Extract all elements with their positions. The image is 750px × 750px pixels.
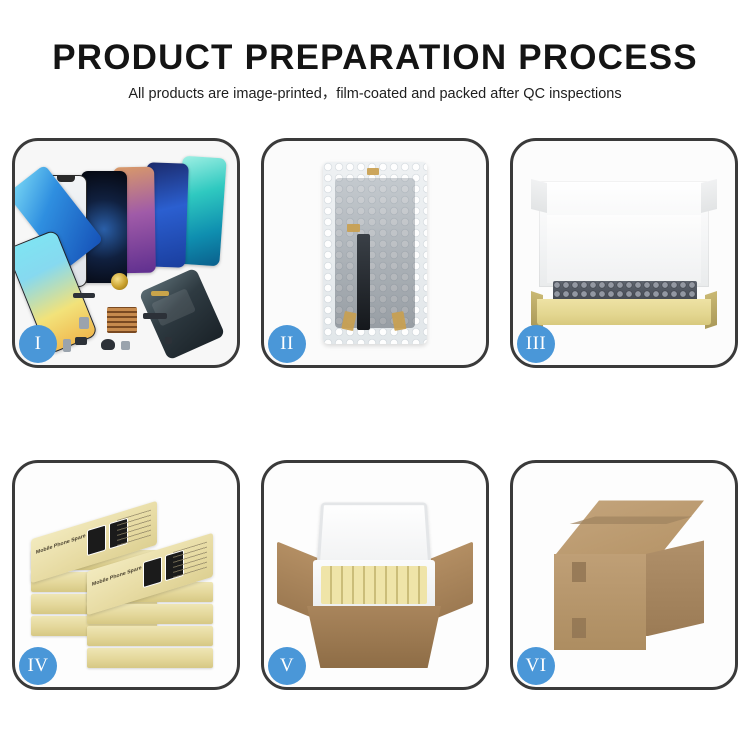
screw-icon — [165, 337, 172, 344]
flex-cable-dark-icon — [143, 313, 167, 319]
tape-bottom-left-icon — [341, 311, 356, 331]
part-connector-icon — [75, 337, 87, 345]
box-lid-flap-left-icon — [531, 179, 547, 213]
step-badge-2: II — [268, 325, 306, 363]
part-bracket-icon — [79, 317, 89, 329]
box-lid-flap-right-icon — [701, 179, 717, 213]
step-badge-5: V — [268, 647, 306, 685]
step-panel-6: VI — [510, 460, 738, 690]
step-panel-4: Mobile Phone Spare Parts Mobile Phone Sp… — [12, 460, 240, 690]
tape-top-icon — [367, 168, 379, 175]
box-print-thumb-icon — [143, 557, 162, 589]
step-badge-6: VI — [517, 647, 555, 685]
box-stack-icon: Mobile Phone Spare Parts Mobile Phone Sp… — [31, 494, 221, 664]
carton-body-icon — [307, 606, 441, 668]
speaker-module-icon — [101, 339, 115, 350]
box-print-textlines-icon — [173, 542, 207, 578]
page-subtitle: All products are image-printed，film-coat… — [0, 86, 750, 103]
step-badge-3: III — [517, 325, 555, 363]
flex-cable-gold-icon — [151, 291, 169, 296]
carton-side-face-icon — [646, 540, 704, 636]
box-print-thumb-icon — [87, 525, 106, 557]
tape-middle-icon — [347, 224, 360, 232]
camera-module-icon — [121, 341, 130, 350]
step-panel-3: III — [510, 138, 738, 368]
header: PRODUCT PREPARATION PROCESS All products… — [0, 0, 750, 103]
page-title: PRODUCT PREPARATION PROCESS — [0, 40, 750, 77]
yellow-boxes-inside-icon — [321, 566, 427, 604]
sealed-carton-icon — [532, 500, 716, 658]
carton-tape-upper-icon — [572, 562, 586, 582]
step-badge-1: I — [19, 325, 57, 363]
box-front-panel-icon — [537, 299, 711, 325]
box-print-textlines-icon — [117, 510, 151, 546]
foam-lined-carton-icon — [277, 494, 473, 674]
step-panel-5: V — [261, 460, 489, 690]
wrapped-screen-icon — [335, 178, 415, 328]
sim-tray-icon — [63, 339, 71, 352]
screen-flex-cable-icon — [357, 234, 370, 330]
speaker-coil-icon — [111, 273, 128, 290]
open-inner-box-icon — [531, 181, 717, 333]
foam-lid-icon — [317, 502, 432, 566]
carton-front-face-icon — [554, 554, 646, 650]
bubble-wrap-bag-icon — [323, 162, 427, 344]
stacked-box-icon — [87, 648, 213, 668]
foam-sheet-icon — [547, 215, 701, 283]
step-panel-2: II — [261, 138, 489, 368]
logic-board-chip-icon — [107, 307, 137, 333]
step-badge-4: IV — [19, 647, 57, 685]
step-panel-1: I — [12, 138, 240, 368]
process-steps-grid: I II — [12, 138, 738, 690]
stacked-box-icon — [87, 626, 213, 646]
carton-tape-lower-icon — [572, 618, 586, 638]
part-strip-icon — [73, 293, 95, 298]
product-preparation-infographic: PRODUCT PREPARATION PROCESS All products… — [0, 0, 750, 750]
